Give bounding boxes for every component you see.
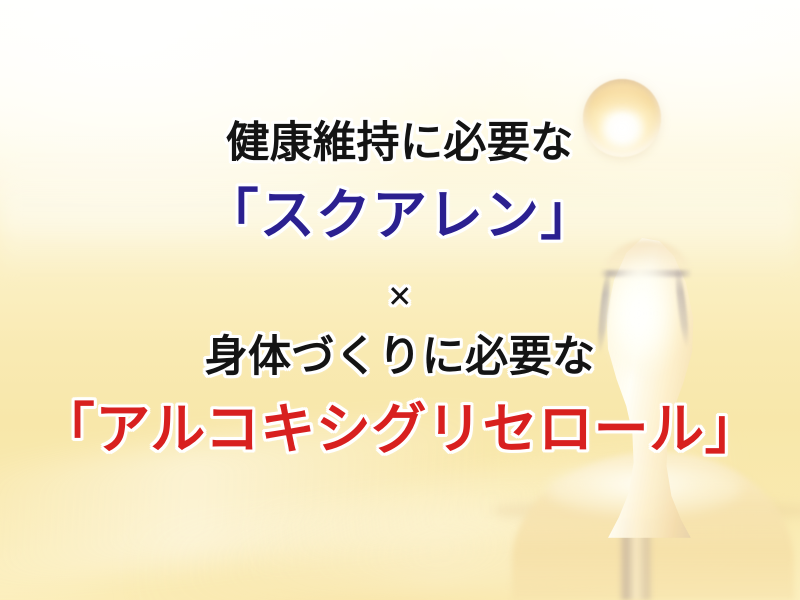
promo-banner: 健康維持に必要な 「スクアレン」 × 身体づくりに必要な 「アルコキシグリセロー…: [0, 0, 800, 600]
headline-line-1: 健康維持に必要な: [0, 122, 800, 165]
headline-line-3: 身体づくりに必要な: [0, 336, 800, 379]
multiply-separator-icon: ×: [0, 276, 800, 318]
headline-line-4-alkoxyglycerol: 「アルコキシグリセロール」: [0, 402, 800, 457]
headline-block: 健康維持に必要な 「スクアレン」 × 身体づくりに必要な 「アルコキシグリセロー…: [0, 0, 800, 600]
headline-line-2-squalene: 「スクアレン」: [0, 188, 800, 243]
